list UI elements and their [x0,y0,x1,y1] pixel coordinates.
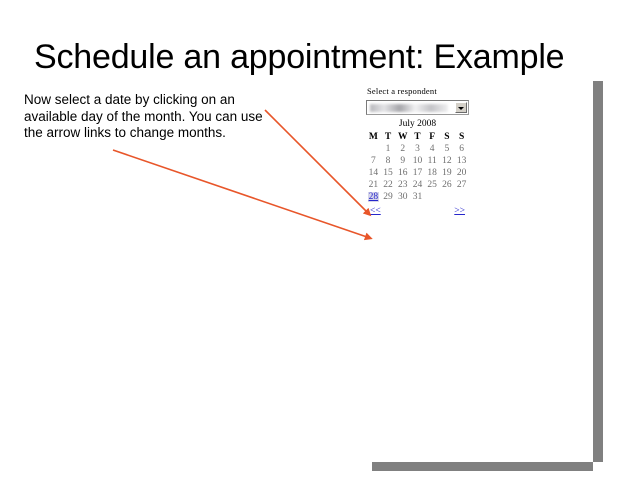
calendar-day-available-28[interactable]: 28 [366,191,381,203]
chevron-down-glyph [458,107,464,110]
calendar-day-empty [366,143,381,155]
weekday-header: T [381,131,396,143]
slide-canvas: Schedule an appointment: Example Now sel… [0,0,640,480]
calendar-day-empty [454,191,469,203]
calendar-day-12: 12 [440,155,455,167]
slide-frame-bottom-bar [372,462,593,471]
calendar-widget: Select a respondent July 2008 M T W T F … [366,86,478,218]
next-month-link[interactable]: >> [454,205,465,218]
instruction-text: Now select a date by clicking on an avai… [24,92,270,142]
calendar-day-5: 5 [440,143,455,155]
calendar-day-6: 6 [454,143,469,155]
respondent-select[interactable] [366,100,469,115]
calendar-day-22: 22 [381,179,396,191]
prev-month-link[interactable]: << [370,205,381,218]
calendar-day-11: 11 [425,155,440,167]
calendar-week-row: 21222324252627 [366,179,469,191]
calendar-day-15: 15 [381,167,396,179]
calendar-day-13: 13 [454,155,469,167]
calendar-weekday-header-row: M T W T F S S [366,131,469,143]
weekday-header: W [395,131,410,143]
calendar-day-31: 31 [410,191,425,203]
weekday-header: T [410,131,425,143]
weekday-header: S [440,131,455,143]
calendar-body: 1234567891011121314151617181920212223242… [366,143,469,203]
calendar-day-21: 21 [366,179,381,191]
calendar-week-row: 14151617181920 [366,167,469,179]
calendar-nav: << >> [366,205,469,218]
calendar-day-24: 24 [410,179,425,191]
calendar-day-23: 23 [395,179,410,191]
weekday-header: F [425,131,440,143]
arrow-to-month-nav-links [113,150,367,237]
calendar-day-9: 9 [395,155,410,167]
calendar-week-row: 123456 [366,143,469,155]
calendar-day-empty [425,191,440,203]
calendar-day-10: 10 [410,155,425,167]
calendar-day-2: 2 [395,143,410,155]
calendar-day-empty [440,191,455,203]
chevron-down-icon[interactable] [455,102,467,113]
calendar-day-8: 8 [381,155,396,167]
calendar-day-4: 4 [425,143,440,155]
slide-frame-right-bar [593,81,603,462]
calendar-day-16: 16 [395,167,410,179]
calendar-day-19: 19 [440,167,455,179]
calendar-day-3: 3 [410,143,425,155]
calendar-day-30: 30 [395,191,410,203]
calendar-day-18: 18 [425,167,440,179]
calendar-day-1: 1 [381,143,396,155]
calendar-day-20: 20 [454,167,469,179]
calendar-grid: M T W T F S S 12345678910111213141516171… [366,131,469,203]
arrow-to-available-day [265,110,367,212]
calendar-day-link[interactable]: 28 [368,192,380,202]
calendar-week-row: 78910111213 [366,155,469,167]
calendar-week-row: 28293031 [366,191,469,203]
calendar-day-17: 17 [410,167,425,179]
calendar-month-title: July 2008 [366,118,469,130]
calendar-day-29: 29 [381,191,396,203]
respondent-label: Select a respondent [367,86,478,97]
weekday-header: M [366,131,381,143]
page-title: Schedule an appointment: Example [34,36,614,78]
calendar-day-25: 25 [425,179,440,191]
calendar-day-26: 26 [440,179,455,191]
respondent-selected-value [370,104,448,112]
weekday-header: S [454,131,469,143]
calendar-day-14: 14 [366,167,381,179]
calendar-day-27: 27 [454,179,469,191]
calendar-day-7: 7 [366,155,381,167]
